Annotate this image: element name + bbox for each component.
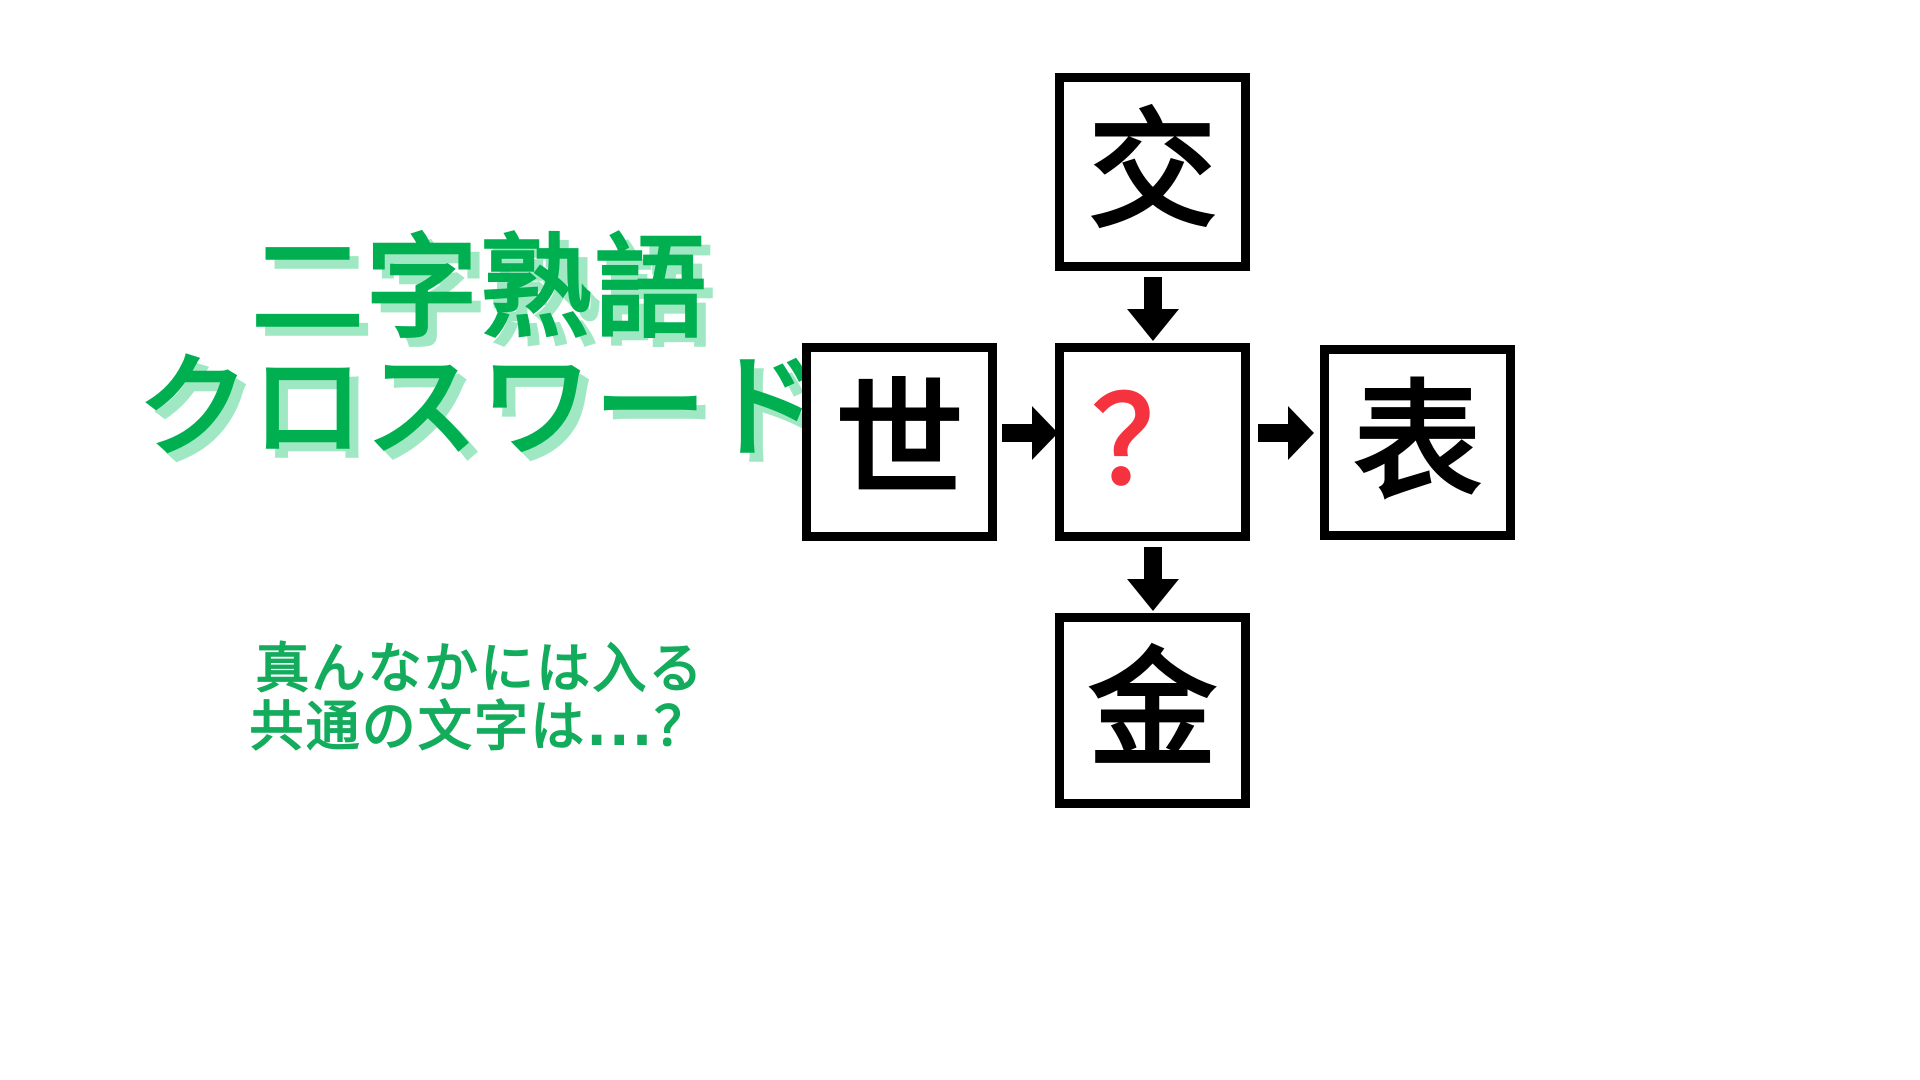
- arrow-right-icon-left-to-center: [1002, 406, 1058, 460]
- arrow-down-icon-top-to-center: [1127, 277, 1179, 341]
- puzzle-cell-top-char: 交: [1088, 108, 1216, 236]
- puzzle-cell-center-unknown-char: ？: [1093, 382, 1213, 502]
- puzzle-cell-left-char: 世: [835, 378, 963, 506]
- puzzle-cell-right[interactable]: 表: [1320, 345, 1515, 540]
- puzzle-cell-center[interactable]: ？: [1055, 343, 1250, 541]
- arrow-down-icon-center-to-bottom: [1127, 547, 1179, 611]
- puzzle-cell-right-char: 表: [1353, 379, 1481, 507]
- puzzle-cell-bottom[interactable]: 金: [1055, 613, 1250, 808]
- puzzle-cell-left[interactable]: 世: [802, 343, 997, 541]
- puzzle-cell-top[interactable]: 交: [1055, 73, 1250, 271]
- crossword-puzzle-grid: 交 世 ？ 表 金: [780, 0, 1920, 1080]
- puzzle-cell-bottom-char: 金: [1088, 647, 1216, 775]
- arrow-right-icon-center-to-right: [1258, 406, 1314, 460]
